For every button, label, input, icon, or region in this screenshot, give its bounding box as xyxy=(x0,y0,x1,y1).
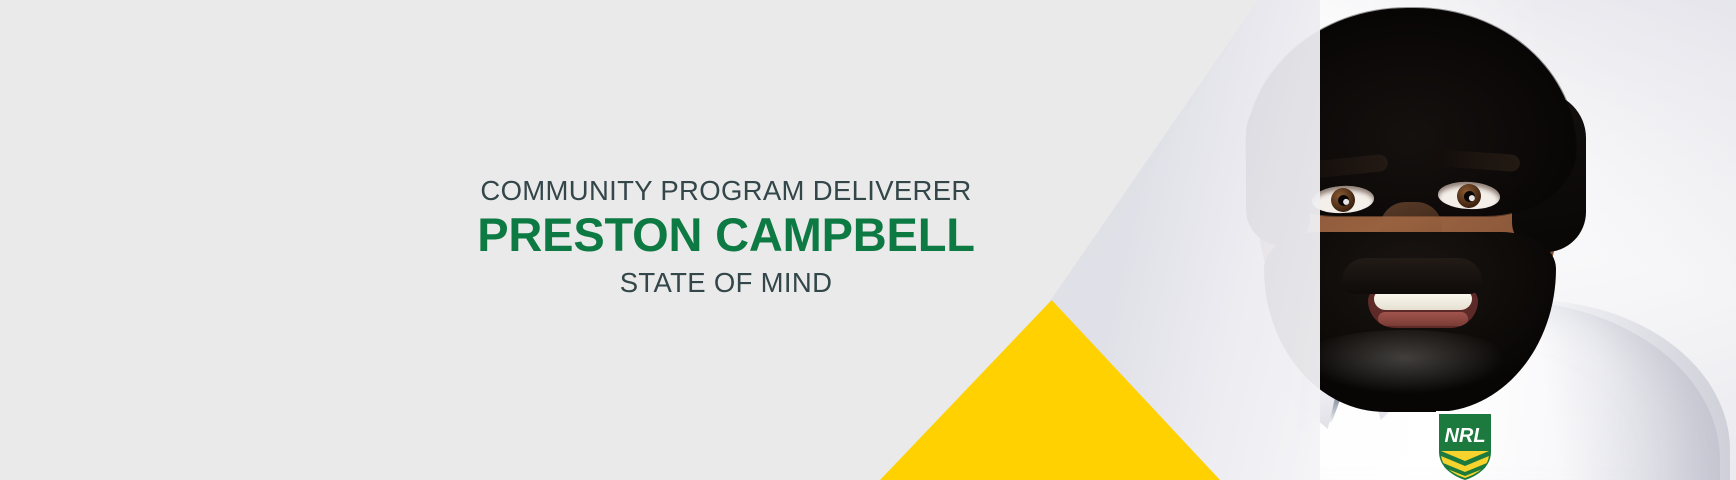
role-label: COMMUNITY PROGRAM DELIVERER xyxy=(476,176,976,207)
mouth xyxy=(1368,288,1478,328)
beard-grey-patch xyxy=(1290,330,1520,400)
program-label: STATE OF MIND xyxy=(476,268,976,299)
person-name: PRESTON CAMPBELL xyxy=(476,209,976,261)
nrl-logo-icon: NRL xyxy=(1432,408,1498,480)
eye-glint-left xyxy=(1343,199,1349,205)
eye-glint-right xyxy=(1469,195,1475,201)
lower-lip xyxy=(1378,312,1468,326)
svg-text:NRL: NRL xyxy=(1444,425,1485,447)
iris-right xyxy=(1456,183,1481,208)
pupil-right xyxy=(1464,191,1476,203)
pupil-left xyxy=(1338,195,1350,207)
moustache xyxy=(1342,258,1482,294)
promo-banner: NRL COMMUNITY PROGRAM DELIVERER PRESTON … xyxy=(0,0,1736,480)
banner-text-block: COMMUNITY PROGRAM DELIVERER PRESTON CAMP… xyxy=(476,176,976,299)
iris-left xyxy=(1330,187,1355,212)
